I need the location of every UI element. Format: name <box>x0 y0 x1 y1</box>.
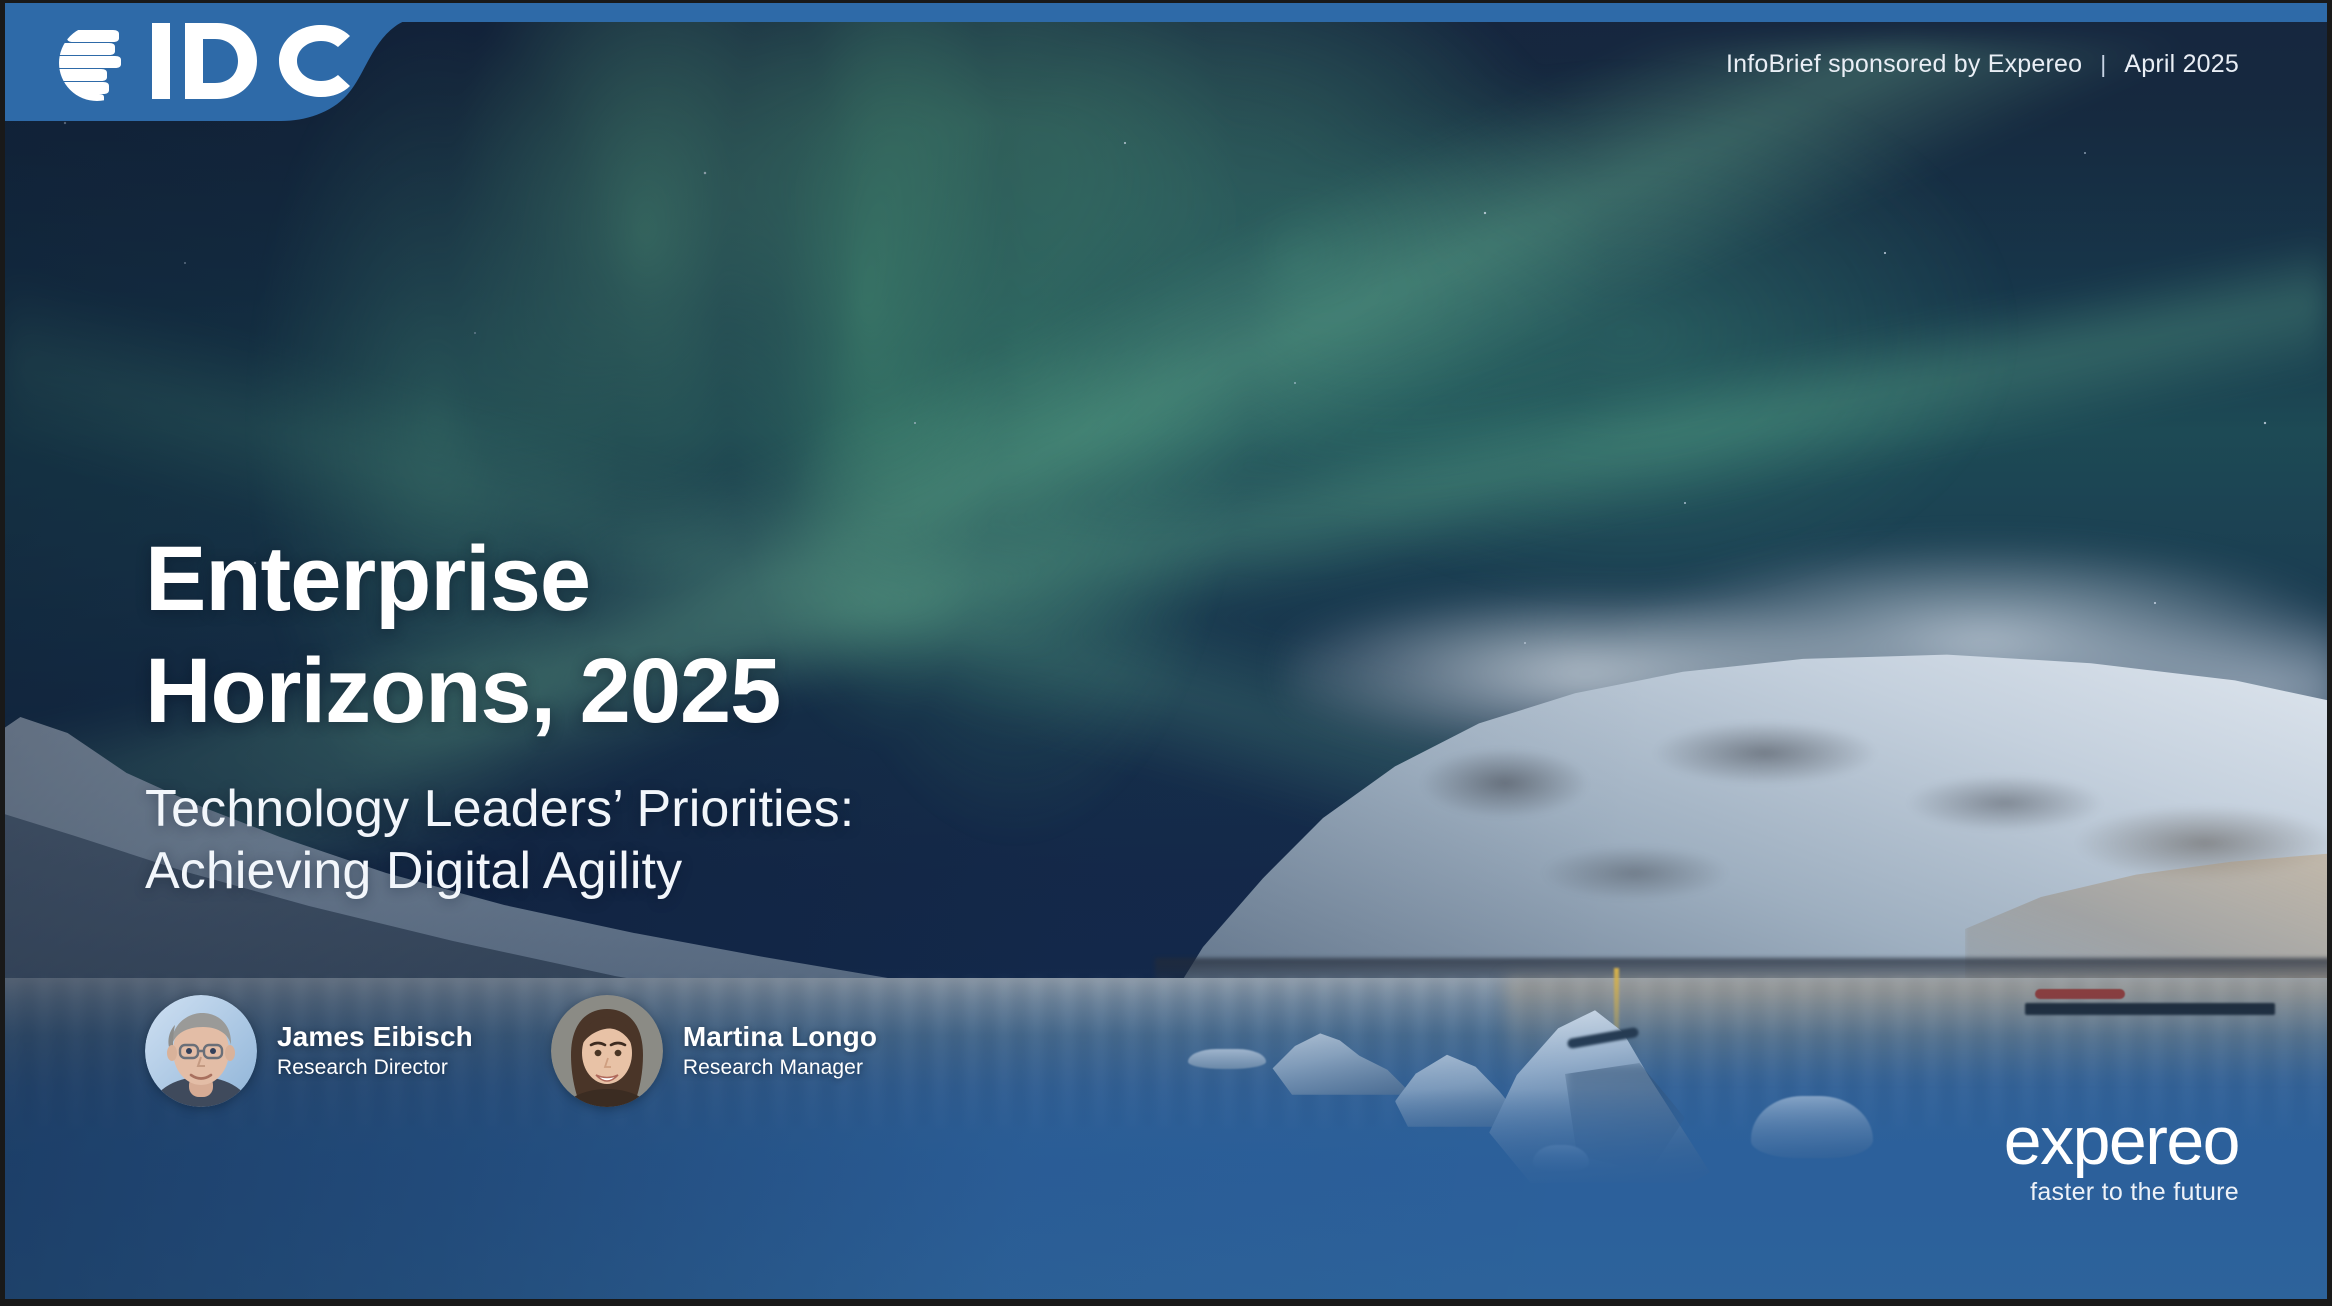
sponsor-text: InfoBrief sponsored by Expereo <box>1726 50 2082 79</box>
subtitle-line-1: Technology Leaders’ Priorities: <box>145 778 854 840</box>
author-role: Research Director <box>277 1054 473 1082</box>
avatar <box>145 995 257 1107</box>
cover-page: InfoBrief sponsored by Expereo | April 2… <box>0 0 2332 1306</box>
header-separator: | <box>2100 51 2106 78</box>
header-meta: InfoBrief sponsored by Expereo | April 2… <box>1726 50 2239 79</box>
author-list: James Eibisch Research Director <box>145 995 877 1107</box>
page-title: Enterprise Horizons, 2025 <box>145 523 780 747</box>
author-name: James Eibisch <box>277 1020 473 1054</box>
water-foreground-fade <box>5 1089 2327 1299</box>
expereo-wordmark: expereo <box>2004 1109 2239 1173</box>
idc-logo-badge <box>5 3 475 148</box>
author-name: Martina Longo <box>683 1020 877 1054</box>
title-line-1: Enterprise <box>145 523 780 635</box>
expereo-tagline: faster to the future <box>2004 1177 2239 1207</box>
avatar <box>551 995 663 1107</box>
author-item: James Eibisch Research Director <box>145 995 473 1107</box>
title-line-2: Horizons, 2025 <box>145 635 780 747</box>
page-subtitle: Technology Leaders’ Priorities: Achievin… <box>145 778 854 902</box>
subtitle-line-2: Achieving Digital Agility <box>145 840 854 902</box>
publication-date: April 2025 <box>2124 50 2239 79</box>
expereo-logo: expereo faster to the future <box>2004 1109 2239 1207</box>
author-text: James Eibisch Research Director <box>277 1020 473 1082</box>
author-text: Martina Longo Research Manager <box>683 1020 877 1082</box>
author-item: Martina Longo Research Manager <box>551 995 877 1107</box>
author-role: Research Manager <box>683 1054 877 1082</box>
